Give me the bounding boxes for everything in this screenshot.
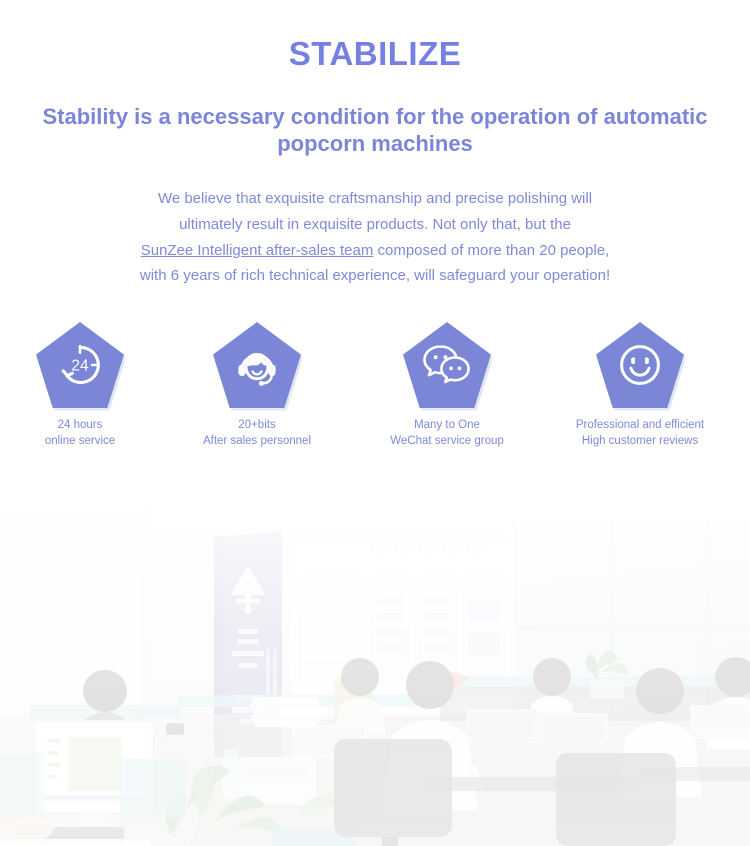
feature-list: 24 24 hours online service [0, 322, 750, 462]
feature-caption-line-2: WeChat service group [390, 435, 504, 447]
feature-caption-line-1: Many to One [414, 419, 480, 431]
feature-caption-line-1: 24 hours [58, 419, 103, 431]
feature-item-customer-reviews: Professional and efficient High customer… [560, 322, 720, 450]
paragraph-line-1: We believe that exquisite craftsmanship … [158, 190, 592, 207]
paragraph-line-3-rest: composed of more than 20 people, [373, 242, 609, 259]
headset-support-agent-icon [213, 322, 301, 408]
pentagon-badge [596, 322, 684, 408]
stabilize-section-page: STABILIZE Stability is a necessary condi… [0, 0, 750, 846]
feature-caption-line-1: Professional and efficient [576, 419, 704, 431]
feature-caption-line-2: High customer reviews [582, 435, 698, 447]
feature-item-after-sales-personnel: 20+bits After sales personnel [177, 322, 337, 450]
smiley-face-icon [596, 322, 684, 408]
paragraph-line-2: ultimately result in exquisite products.… [179, 216, 571, 233]
office-photo-illustration [0, 509, 750, 846]
page-subtitle: Stability is a necessary condition for t… [30, 104, 720, 158]
office-chair-2 [556, 753, 676, 846]
feature-caption: 20+bits After sales personnel [177, 417, 337, 450]
feature-caption: 24 hours online service [0, 417, 160, 450]
paragraph-line-4: with 6 years of rich technical experienc… [140, 267, 610, 284]
feature-caption-line-2: online service [45, 435, 115, 447]
feature-caption: Many to One WeChat service group [367, 417, 527, 450]
wechat-chat-bubbles-icon [403, 322, 491, 408]
pentagon-badge: 24 [36, 322, 124, 408]
svg-text:24: 24 [71, 358, 89, 375]
clock-24-hours-icon: 24 [36, 322, 124, 408]
pentagon-badge [403, 322, 491, 408]
office-photo [0, 509, 750, 846]
feature-item-24-hours: 24 24 hours online service [0, 322, 160, 450]
feature-item-wechat-service-group: Many to One WeChat service group [367, 322, 527, 450]
after-sales-team-highlight: SunZee Intelligent after-sales team [141, 242, 374, 259]
body-paragraph: We believe that exquisite craftsmanship … [68, 186, 682, 289]
feature-caption: Professional and efficient High customer… [560, 417, 720, 450]
pentagon-badge [213, 322, 301, 408]
office-chair-1 [334, 739, 452, 846]
feature-caption-line-1: 20+bits [238, 419, 275, 431]
page-title: STABILIZE [0, 36, 750, 72]
feature-caption-line-2: After sales personnel [203, 435, 311, 447]
